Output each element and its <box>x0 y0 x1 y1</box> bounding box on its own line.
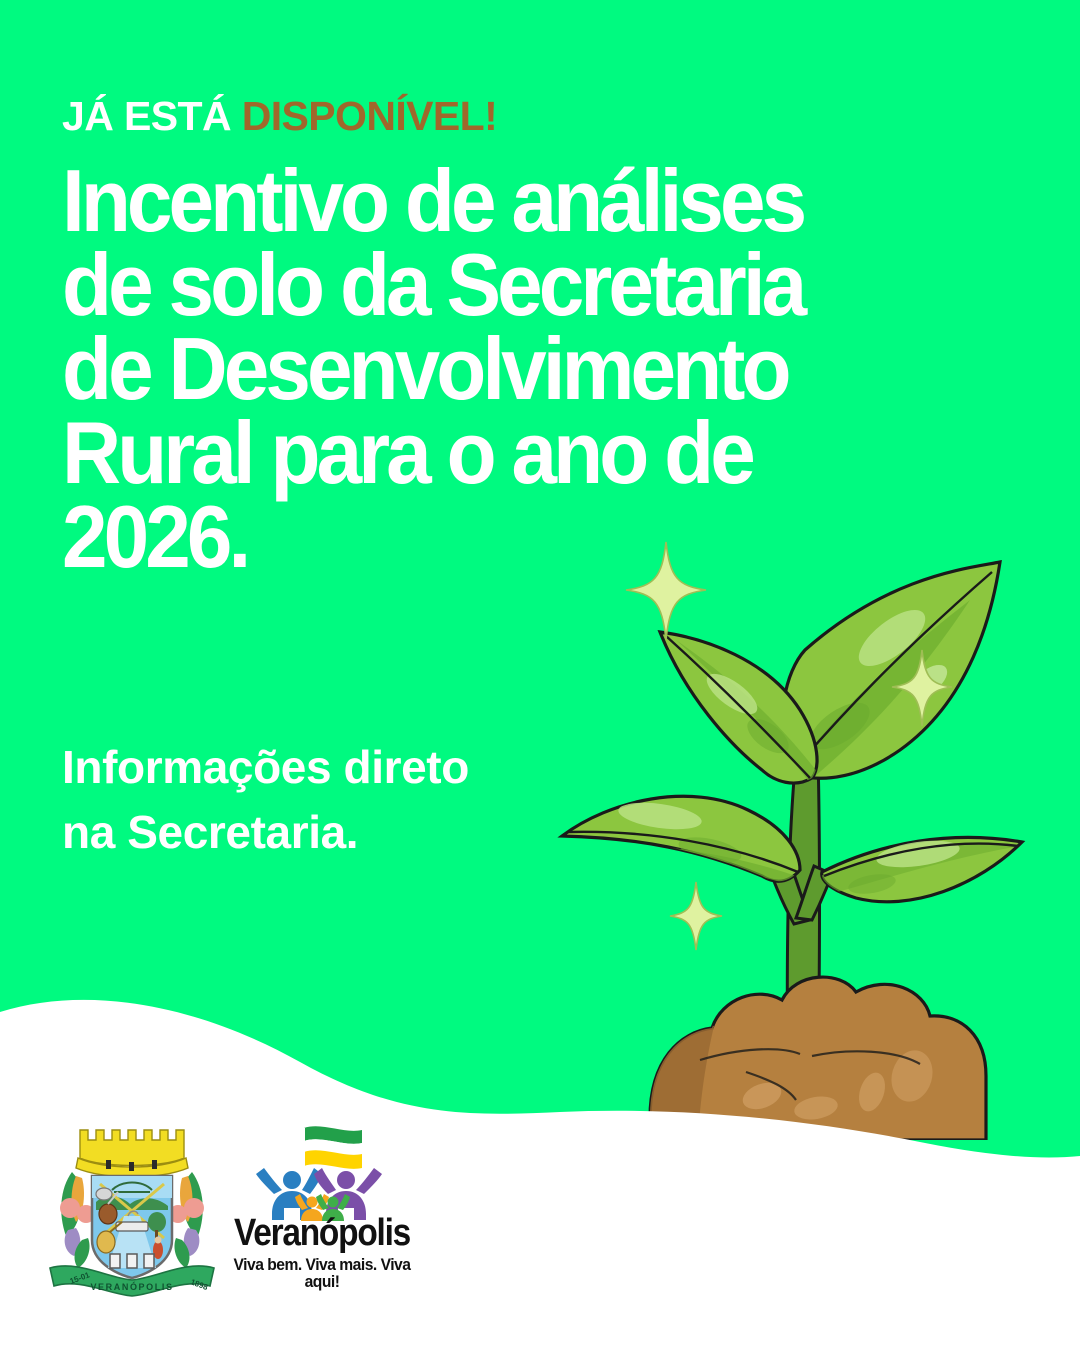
sparkle-icon-bottom-left <box>670 882 722 950</box>
footer-logos: 15-01 VERANÓPOLIS 1898 <box>0 1110 1080 1350</box>
poster-canvas: JÁ ESTÁ DISPONÍVEL! Incentivo de análise… <box>0 0 1080 1350</box>
eyebrow-accent: DISPONÍVEL! <box>242 93 497 139</box>
crest-shield <box>92 1176 172 1278</box>
subcopy-text: Informações direto na Secretaria. <box>62 735 682 866</box>
eyebrow-plain: JÁ ESTÁ <box>62 93 242 139</box>
veranopolis-coat-of-arms: 15-01 VERANÓPOLIS 1898 <box>44 1118 220 1303</box>
leaf-lower-right <box>820 836 1022 902</box>
flag-ribbon-icon <box>300 1126 362 1169</box>
brand-mark <box>222 1122 422 1222</box>
page-title: Incentivo de análises de solo da Secreta… <box>62 159 899 579</box>
crest-banner-center: VERANÓPOLIS <box>90 1281 173 1292</box>
headline-block: JÁ ESTÁ DISPONÍVEL! Incentivo de análise… <box>62 96 962 579</box>
veranopolis-brand-logo: Veranópolis Viva bem. Viva mais. Viva aq… <box>222 1122 422 1297</box>
brand-tagline: Viva bem. Viva mais. Viva aqui! <box>230 1256 414 1290</box>
brand-name: Veranópolis <box>234 1214 410 1252</box>
leaf-upper-left <box>660 632 822 786</box>
crest-crown <box>76 1130 188 1177</box>
eyebrow-text: JÁ ESTÁ DISPONÍVEL! <box>62 96 962 137</box>
